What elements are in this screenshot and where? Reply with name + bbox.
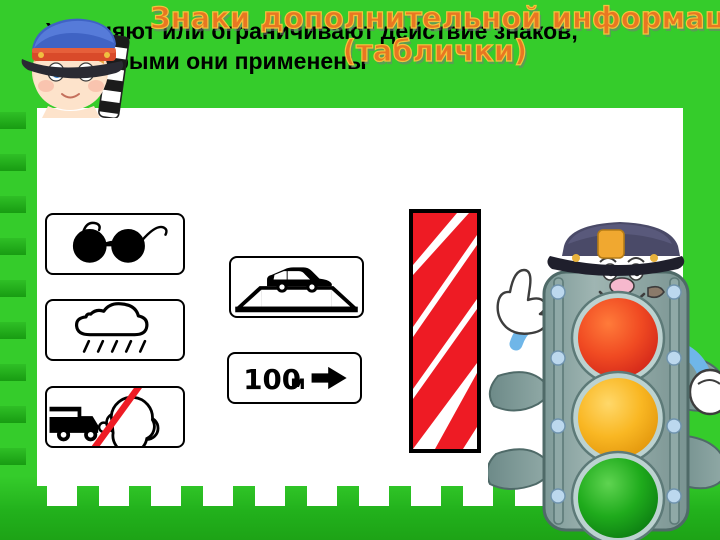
plate-distance-to-object[interactable]: 100 м (227, 352, 362, 404)
rain-cloud-icon (47, 301, 183, 359)
distance-unit-text: м (290, 373, 305, 394)
cap-badge-icon (598, 230, 624, 258)
lamp-amber (572, 372, 664, 464)
left-border-teeth (0, 108, 40, 486)
plate-blind-pedestrians[interactable] (45, 213, 185, 275)
plate-no-truck-exhaust[interactable] (45, 386, 185, 448)
lamp-green (572, 452, 664, 540)
diagonal-stripes-icon (413, 213, 477, 449)
plate-wet-roadway[interactable] (45, 299, 185, 361)
left-foot (490, 372, 548, 410)
right-glove-icon (690, 370, 720, 414)
plate-direction-barrier-board[interactable] (409, 209, 481, 453)
dark-glasses-icon (47, 215, 183, 273)
right-arrow-icon (312, 367, 347, 389)
left-foot-2 (488, 449, 549, 489)
police-cap-icon (22, 19, 124, 79)
plate-bridge-overpass[interactable] (229, 256, 364, 318)
distance-plate-graphic: 100 м (229, 354, 360, 402)
slide-canvas: Знаки дополнительной информации (табличк… (0, 0, 720, 540)
left-glove-icon (498, 270, 547, 334)
truck-exhaust-crossed-icon (47, 388, 183, 446)
boy-inspector-character (8, 6, 158, 118)
traffic-light-police-cap-icon (547, 222, 684, 276)
lamp-red (572, 292, 664, 384)
traffic-light-officer-character (488, 196, 720, 540)
car-on-bridge-icon (231, 258, 362, 316)
